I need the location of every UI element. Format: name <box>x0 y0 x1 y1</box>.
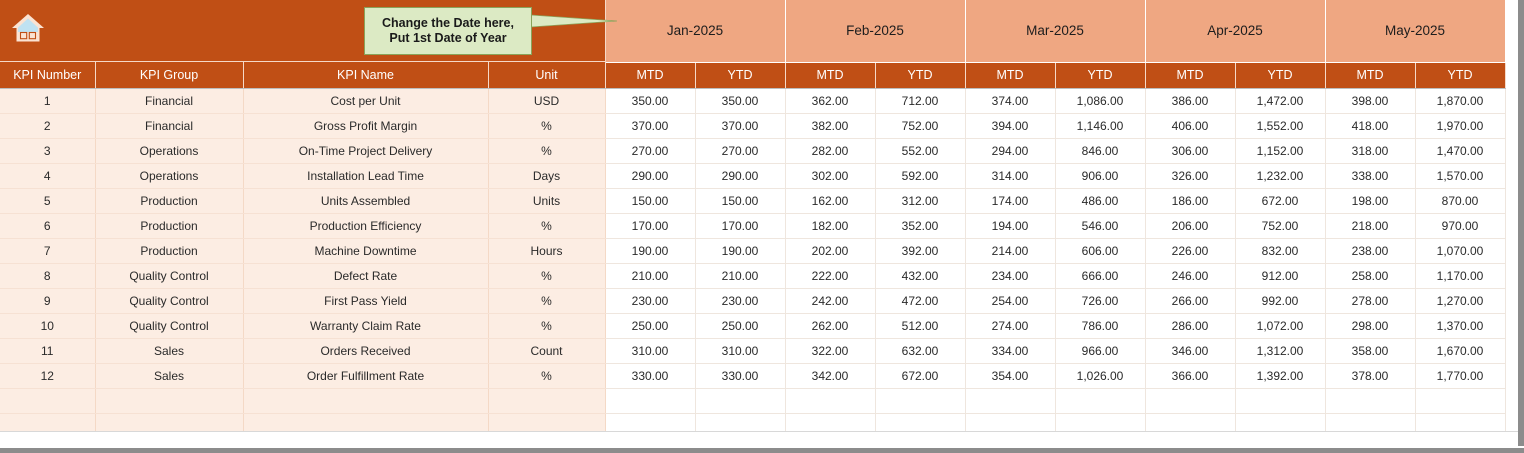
table-row-empty <box>0 388 1505 413</box>
cell-value-feb-2025-ytd[interactable]: 472.00 <box>875 288 965 313</box>
cell-value-jan-2025-mtd[interactable]: 290.00 <box>605 163 695 188</box>
cell-value-feb-2025-mtd[interactable]: 182.00 <box>785 213 875 238</box>
cell-kpi-number[interactable]: 12 <box>0 363 95 388</box>
column-header-may-mtd: MTD <box>1325 62 1415 88</box>
cell-value-mar-2025-ytd[interactable]: 906.00 <box>1055 163 1145 188</box>
cell-value-mar-2025-mtd[interactable]: 274.00 <box>965 313 1055 338</box>
cell-kpi-number[interactable]: 11 <box>0 338 95 363</box>
cell-value-jan-2025-mtd[interactable]: 270.00 <box>605 138 695 163</box>
cell-unit[interactable]: % <box>488 138 605 163</box>
cell-value-mar-2025-mtd[interactable]: 234.00 <box>965 263 1055 288</box>
column-header-kpi-group: KPI Group <box>95 62 243 88</box>
cell-value-apr-2025-ytd[interactable]: 1,152.00 <box>1235 138 1325 163</box>
cell-value-feb-2025-ytd[interactable]: 512.00 <box>875 313 965 338</box>
cell-value-apr-2025-mtd[interactable]: 186.00 <box>1145 188 1235 213</box>
cell-value-jan-2025-ytd[interactable]: 310.00 <box>695 338 785 363</box>
column-header-may-ytd: YTD <box>1415 62 1505 88</box>
cell-unit[interactable]: % <box>488 263 605 288</box>
cell-value-may-2025-mtd[interactable]: 258.00 <box>1325 263 1415 288</box>
cell-unit[interactable]: Hours <box>488 238 605 263</box>
cell-value-mar-2025-ytd[interactable]: 786.00 <box>1055 313 1145 338</box>
table-row: 9Quality ControlFirst Pass Yield%230.002… <box>0 288 1505 313</box>
cell-kpi-number[interactable]: 2 <box>0 113 95 138</box>
kpi-dashboard-sheet: Jan-2025 Feb-2025 Mar-2025 Apr-2025 May-… <box>0 0 1524 453</box>
cell-value-mar-2025-mtd[interactable]: 194.00 <box>965 213 1055 238</box>
cell-value-apr-2025-mtd[interactable]: 406.00 <box>1145 113 1235 138</box>
cell-kpi-group[interactable]: Quality Control <box>95 313 243 338</box>
cell-value-apr-2025-mtd[interactable]: 266.00 <box>1145 288 1235 313</box>
column-header-jan-ytd: YTD <box>695 62 785 88</box>
cell-value-feb-2025-ytd[interactable]: 432.00 <box>875 263 965 288</box>
cell-empty-value[interactable] <box>875 388 965 413</box>
cell-value-mar-2025-mtd[interactable]: 174.00 <box>965 188 1055 213</box>
cell-kpi-name[interactable]: Machine Downtime <box>243 238 488 263</box>
cell-value-may-2025-ytd[interactable]: 970.00 <box>1415 213 1505 238</box>
cell-kpi-group[interactable]: Quality Control <box>95 288 243 313</box>
column-header-row: KPI Number KPI Group KPI Name Unit MTD Y… <box>0 62 1505 88</box>
cell-value-may-2025-ytd[interactable]: 1,870.00 <box>1415 88 1505 113</box>
cell-unit[interactable]: Days <box>488 163 605 188</box>
cell-value-feb-2025-mtd[interactable]: 242.00 <box>785 288 875 313</box>
cell-value-mar-2025-ytd[interactable]: 666.00 <box>1055 263 1145 288</box>
cell-empty-label[interactable] <box>0 388 95 413</box>
cell-value-mar-2025-ytd[interactable]: 726.00 <box>1055 288 1145 313</box>
table-row: 1FinancialCost per UnitUSD350.00350.0036… <box>0 88 1505 113</box>
cell-value-may-2025-ytd[interactable]: 1,470.00 <box>1415 138 1505 163</box>
cell-value-mar-2025-mtd[interactable]: 394.00 <box>965 113 1055 138</box>
cell-value-jan-2025-mtd[interactable]: 210.00 <box>605 263 695 288</box>
cell-value-apr-2025-ytd[interactable]: 1,232.00 <box>1235 163 1325 188</box>
kpi-table: Jan-2025 Feb-2025 Mar-2025 Apr-2025 May-… <box>0 0 1506 439</box>
cell-value-jan-2025-ytd[interactable]: 370.00 <box>695 113 785 138</box>
cell-empty-value[interactable] <box>1325 388 1415 413</box>
table-row: 10Quality ControlWarranty Claim Rate%250… <box>0 313 1505 338</box>
cell-value-may-2025-mtd[interactable]: 378.00 <box>1325 363 1415 388</box>
cell-kpi-group[interactable]: Production <box>95 238 243 263</box>
cell-value-feb-2025-mtd[interactable]: 302.00 <box>785 163 875 188</box>
cell-kpi-name[interactable]: Cost per Unit <box>243 88 488 113</box>
cell-value-apr-2025-ytd[interactable]: 1,552.00 <box>1235 113 1325 138</box>
cell-value-apr-2025-ytd[interactable]: 672.00 <box>1235 188 1325 213</box>
cell-value-feb-2025-ytd[interactable]: 752.00 <box>875 113 965 138</box>
cell-value-feb-2025-mtd[interactable]: 382.00 <box>785 113 875 138</box>
cell-value-mar-2025-ytd[interactable]: 486.00 <box>1055 188 1145 213</box>
cell-value-jan-2025-mtd[interactable]: 230.00 <box>605 288 695 313</box>
callout-line-2: Put 1st Date of Year <box>389 31 506 46</box>
column-header-mar-ytd: YTD <box>1055 62 1145 88</box>
cell-value-may-2025-mtd[interactable]: 338.00 <box>1325 163 1415 188</box>
cell-value-jan-2025-mtd[interactable]: 190.00 <box>605 238 695 263</box>
cell-kpi-number[interactable]: 8 <box>0 263 95 288</box>
column-header-feb-mtd: MTD <box>785 62 875 88</box>
cell-value-apr-2025-ytd[interactable]: 832.00 <box>1235 238 1325 263</box>
cell-kpi-group[interactable]: Production <box>95 188 243 213</box>
cell-value-jan-2025-mtd[interactable]: 310.00 <box>605 338 695 363</box>
cell-value-mar-2025-ytd[interactable]: 1,146.00 <box>1055 113 1145 138</box>
column-header-kpi-name: KPI Name <box>243 62 488 88</box>
cell-value-may-2025-ytd[interactable]: 1,370.00 <box>1415 313 1505 338</box>
cell-kpi-group[interactable]: Financial <box>95 113 243 138</box>
cell-value-jan-2025-ytd[interactable]: 170.00 <box>695 213 785 238</box>
cell-value-mar-2025-ytd[interactable]: 546.00 <box>1055 213 1145 238</box>
cell-value-apr-2025-ytd[interactable]: 1,312.00 <box>1235 338 1325 363</box>
cell-value-jan-2025-ytd[interactable]: 350.00 <box>695 88 785 113</box>
table-row: 11SalesOrders ReceivedCount310.00310.003… <box>0 338 1505 363</box>
cell-kpi-name[interactable]: Production Efficiency <box>243 213 488 238</box>
cell-value-mar-2025-mtd[interactable]: 354.00 <box>965 363 1055 388</box>
cell-value-jan-2025-ytd[interactable]: 190.00 <box>695 238 785 263</box>
cell-value-apr-2025-ytd[interactable]: 992.00 <box>1235 288 1325 313</box>
table-row: 2FinancialGross Profit Margin%370.00370.… <box>0 113 1505 138</box>
cell-value-apr-2025-mtd[interactable]: 226.00 <box>1145 238 1235 263</box>
month-header-may: May-2025 <box>1325 0 1505 62</box>
cell-value-apr-2025-mtd[interactable]: 366.00 <box>1145 363 1235 388</box>
cell-kpi-group[interactable]: Sales <box>95 363 243 388</box>
month-header-feb: Feb-2025 <box>785 0 965 62</box>
cell-kpi-name[interactable]: Orders Received <box>243 338 488 363</box>
cell-unit[interactable]: % <box>488 113 605 138</box>
cell-kpi-group[interactable]: Quality Control <box>95 263 243 288</box>
cell-kpi-group[interactable]: Financial <box>95 88 243 113</box>
cell-value-apr-2025-mtd[interactable]: 326.00 <box>1145 163 1235 188</box>
cell-value-feb-2025-ytd[interactable]: 312.00 <box>875 188 965 213</box>
cell-value-feb-2025-mtd[interactable]: 322.00 <box>785 338 875 363</box>
cell-kpi-number[interactable]: 9 <box>0 288 95 313</box>
cell-value-may-2025-ytd[interactable]: 1,270.00 <box>1415 288 1505 313</box>
cell-value-apr-2025-ytd[interactable]: 1,472.00 <box>1235 88 1325 113</box>
cell-empty-label[interactable] <box>243 388 488 413</box>
right-gap <box>1509 0 1518 440</box>
cell-value-mar-2025-ytd[interactable]: 846.00 <box>1055 138 1145 163</box>
cell-value-may-2025-mtd[interactable]: 358.00 <box>1325 338 1415 363</box>
cell-empty-value[interactable] <box>1055 388 1145 413</box>
cell-value-may-2025-ytd[interactable]: 1,170.00 <box>1415 263 1505 288</box>
cell-value-mar-2025-ytd[interactable]: 1,026.00 <box>1055 363 1145 388</box>
cell-value-apr-2025-mtd[interactable]: 306.00 <box>1145 138 1235 163</box>
cell-kpi-number[interactable]: 6 <box>0 213 95 238</box>
column-header-jan-mtd: MTD <box>605 62 695 88</box>
cell-unit[interactable]: % <box>488 288 605 313</box>
column-header-apr-ytd: YTD <box>1235 62 1325 88</box>
home-icon[interactable] <box>10 11 46 45</box>
cell-value-jan-2025-mtd[interactable]: 330.00 <box>605 363 695 388</box>
cell-value-feb-2025-mtd[interactable]: 362.00 <box>785 88 875 113</box>
callout-line-1: Change the Date here, <box>382 16 514 31</box>
cell-value-jan-2025-ytd[interactable]: 330.00 <box>695 363 785 388</box>
cell-value-may-2025-mtd[interactable]: 398.00 <box>1325 88 1415 113</box>
cell-value-feb-2025-ytd[interactable]: 392.00 <box>875 238 965 263</box>
cell-value-jan-2025-ytd[interactable]: 270.00 <box>695 138 785 163</box>
cell-value-jan-2025-ytd[interactable]: 210.00 <box>695 263 785 288</box>
table-row: 12SalesOrder Fulfillment Rate%330.00330.… <box>0 363 1505 388</box>
cell-value-feb-2025-ytd[interactable]: 712.00 <box>875 88 965 113</box>
cell-kpi-number[interactable]: 1 <box>0 88 95 113</box>
cell-empty-value[interactable] <box>1145 388 1235 413</box>
cell-value-may-2025-mtd[interactable]: 278.00 <box>1325 288 1415 313</box>
cell-value-may-2025-mtd[interactable]: 218.00 <box>1325 213 1415 238</box>
cell-value-jan-2025-ytd[interactable]: 230.00 <box>695 288 785 313</box>
date-change-callout[interactable]: Change the Date here, Put 1st Date of Ye… <box>364 7 532 55</box>
cell-value-jan-2025-mtd[interactable]: 250.00 <box>605 313 695 338</box>
cell-value-may-2025-ytd[interactable]: 1,970.00 <box>1415 113 1505 138</box>
cell-unit[interactable]: % <box>488 213 605 238</box>
table-row: 3OperationsOn-Time Project Delivery%270.… <box>0 138 1505 163</box>
cell-value-mar-2025-mtd[interactable]: 334.00 <box>965 338 1055 363</box>
cell-value-may-2025-mtd[interactable]: 298.00 <box>1325 313 1415 338</box>
cell-value-mar-2025-mtd[interactable]: 374.00 <box>965 88 1055 113</box>
cell-value-apr-2025-mtd[interactable]: 286.00 <box>1145 313 1235 338</box>
callout-pointer <box>531 14 617 28</box>
cell-kpi-number[interactable]: 10 <box>0 313 95 338</box>
cell-value-may-2025-ytd[interactable]: 1,070.00 <box>1415 238 1505 263</box>
column-header-unit: Unit <box>488 62 605 88</box>
cell-value-feb-2025-ytd[interactable]: 672.00 <box>875 363 965 388</box>
cell-kpi-group[interactable]: Production <box>95 213 243 238</box>
cell-kpi-number[interactable]: 3 <box>0 138 95 163</box>
bottom-window-edge[interactable] <box>0 448 1524 453</box>
cell-unit[interactable]: USD <box>488 88 605 113</box>
cell-value-apr-2025-ytd[interactable]: 1,392.00 <box>1235 363 1325 388</box>
cell-value-apr-2025-ytd[interactable]: 912.00 <box>1235 263 1325 288</box>
cell-value-apr-2025-mtd[interactable]: 246.00 <box>1145 263 1235 288</box>
column-header-mar-mtd: MTD <box>965 62 1055 88</box>
cell-value-apr-2025-mtd[interactable]: 206.00 <box>1145 213 1235 238</box>
cell-value-jan-2025-ytd[interactable]: 250.00 <box>695 313 785 338</box>
column-header-feb-ytd: YTD <box>875 62 965 88</box>
cell-empty-value[interactable] <box>695 388 785 413</box>
cell-kpi-number[interactable]: 4 <box>0 163 95 188</box>
cell-value-mar-2025-mtd[interactable]: 254.00 <box>965 288 1055 313</box>
table-row: 6ProductionProduction Efficiency%170.001… <box>0 213 1505 238</box>
cell-value-may-2025-mtd[interactable]: 318.00 <box>1325 138 1415 163</box>
cell-value-jan-2025-mtd[interactable]: 350.00 <box>605 88 695 113</box>
table-row: 7ProductionMachine DowntimeHours190.0019… <box>0 238 1505 263</box>
table-body: 1FinancialCost per UnitUSD350.00350.0036… <box>0 88 1505 438</box>
bottom-filler <box>0 431 1518 448</box>
cell-value-apr-2025-ytd[interactable]: 1,072.00 <box>1235 313 1325 338</box>
cell-value-may-2025-ytd[interactable]: 1,770.00 <box>1415 363 1505 388</box>
column-header-apr-mtd: MTD <box>1145 62 1235 88</box>
month-header-mar: Mar-2025 <box>965 0 1145 62</box>
cell-kpi-number[interactable]: 7 <box>0 238 95 263</box>
cell-value-mar-2025-mtd[interactable]: 294.00 <box>965 138 1055 163</box>
cell-unit[interactable]: % <box>488 313 605 338</box>
cell-kpi-name[interactable]: Defect Rate <box>243 263 488 288</box>
cell-value-feb-2025-ytd[interactable]: 592.00 <box>875 163 965 188</box>
cell-empty-value[interactable] <box>1415 388 1505 413</box>
cell-empty-value[interactable] <box>605 388 695 413</box>
cell-value-may-2025-mtd[interactable]: 238.00 <box>1325 238 1415 263</box>
cell-unit[interactable]: Units <box>488 188 605 213</box>
cell-value-may-2025-mtd[interactable]: 198.00 <box>1325 188 1415 213</box>
cell-value-may-2025-ytd[interactable]: 1,670.00 <box>1415 338 1505 363</box>
cell-value-feb-2025-ytd[interactable]: 632.00 <box>875 338 965 363</box>
cell-value-jan-2025-mtd[interactable]: 370.00 <box>605 113 695 138</box>
cell-value-apr-2025-ytd[interactable]: 752.00 <box>1235 213 1325 238</box>
cell-kpi-group[interactable]: Operations <box>95 163 243 188</box>
cell-kpi-group[interactable]: Operations <box>95 138 243 163</box>
cell-value-jan-2025-mtd[interactable]: 170.00 <box>605 213 695 238</box>
cell-value-mar-2025-ytd[interactable]: 606.00 <box>1055 238 1145 263</box>
month-header-jan: Jan-2025 <box>605 0 785 62</box>
cell-value-feb-2025-mtd[interactable]: 202.00 <box>785 238 875 263</box>
table-row: 5ProductionUnits AssembledUnits150.00150… <box>0 188 1505 213</box>
cell-value-jan-2025-ytd[interactable]: 290.00 <box>695 163 785 188</box>
cell-value-jan-2025-mtd[interactable]: 150.00 <box>605 188 695 213</box>
cell-empty-value[interactable] <box>785 388 875 413</box>
cell-value-mar-2025-ytd[interactable]: 966.00 <box>1055 338 1145 363</box>
cell-unit[interactable]: Count <box>488 338 605 363</box>
cell-kpi-name[interactable]: First Pass Yield <box>243 288 488 313</box>
cell-value-feb-2025-ytd[interactable]: 352.00 <box>875 213 965 238</box>
cell-kpi-name[interactable]: Warranty Claim Rate <box>243 313 488 338</box>
cell-kpi-name[interactable]: Installation Lead Time <box>243 163 488 188</box>
cell-value-jan-2025-ytd[interactable]: 150.00 <box>695 188 785 213</box>
cell-value-feb-2025-mtd[interactable]: 222.00 <box>785 263 875 288</box>
month-header-apr: Apr-2025 <box>1145 0 1325 62</box>
cell-value-apr-2025-mtd[interactable]: 346.00 <box>1145 338 1235 363</box>
cell-empty-value[interactable] <box>1235 388 1325 413</box>
cell-value-may-2025-ytd[interactable]: 870.00 <box>1415 188 1505 213</box>
right-window-edge[interactable] <box>1518 0 1524 446</box>
cell-value-feb-2025-ytd[interactable]: 552.00 <box>875 138 965 163</box>
cell-value-may-2025-mtd[interactable]: 418.00 <box>1325 113 1415 138</box>
cell-empty-label[interactable] <box>488 388 605 413</box>
cell-value-feb-2025-mtd[interactable]: 162.00 <box>785 188 875 213</box>
cell-value-mar-2025-mtd[interactable]: 314.00 <box>965 163 1055 188</box>
cell-empty-label[interactable] <box>95 388 243 413</box>
column-header-kpi-number: KPI Number <box>0 62 95 88</box>
cell-unit[interactable]: % <box>488 363 605 388</box>
cell-kpi-number[interactable]: 5 <box>0 188 95 213</box>
cell-value-feb-2025-mtd[interactable]: 342.00 <box>785 363 875 388</box>
cell-empty-value[interactable] <box>965 388 1055 413</box>
table-row: 4OperationsInstallation Lead TimeDays290… <box>0 163 1505 188</box>
cell-kpi-name[interactable]: Units Assembled <box>243 188 488 213</box>
cell-value-mar-2025-ytd[interactable]: 1,086.00 <box>1055 88 1145 113</box>
cell-kpi-group[interactable]: Sales <box>95 338 243 363</box>
cell-value-feb-2025-mtd[interactable]: 262.00 <box>785 313 875 338</box>
cell-value-mar-2025-mtd[interactable]: 214.00 <box>965 238 1055 263</box>
table-row: 8Quality ControlDefect Rate%210.00210.00… <box>0 263 1505 288</box>
cell-value-apr-2025-mtd[interactable]: 386.00 <box>1145 88 1235 113</box>
cell-kpi-name[interactable]: Gross Profit Margin <box>243 113 488 138</box>
cell-kpi-name[interactable]: Order Fulfillment Rate <box>243 363 488 388</box>
cell-kpi-name[interactable]: On-Time Project Delivery <box>243 138 488 163</box>
cell-value-may-2025-ytd[interactable]: 1,570.00 <box>1415 163 1505 188</box>
cell-value-feb-2025-mtd[interactable]: 282.00 <box>785 138 875 163</box>
